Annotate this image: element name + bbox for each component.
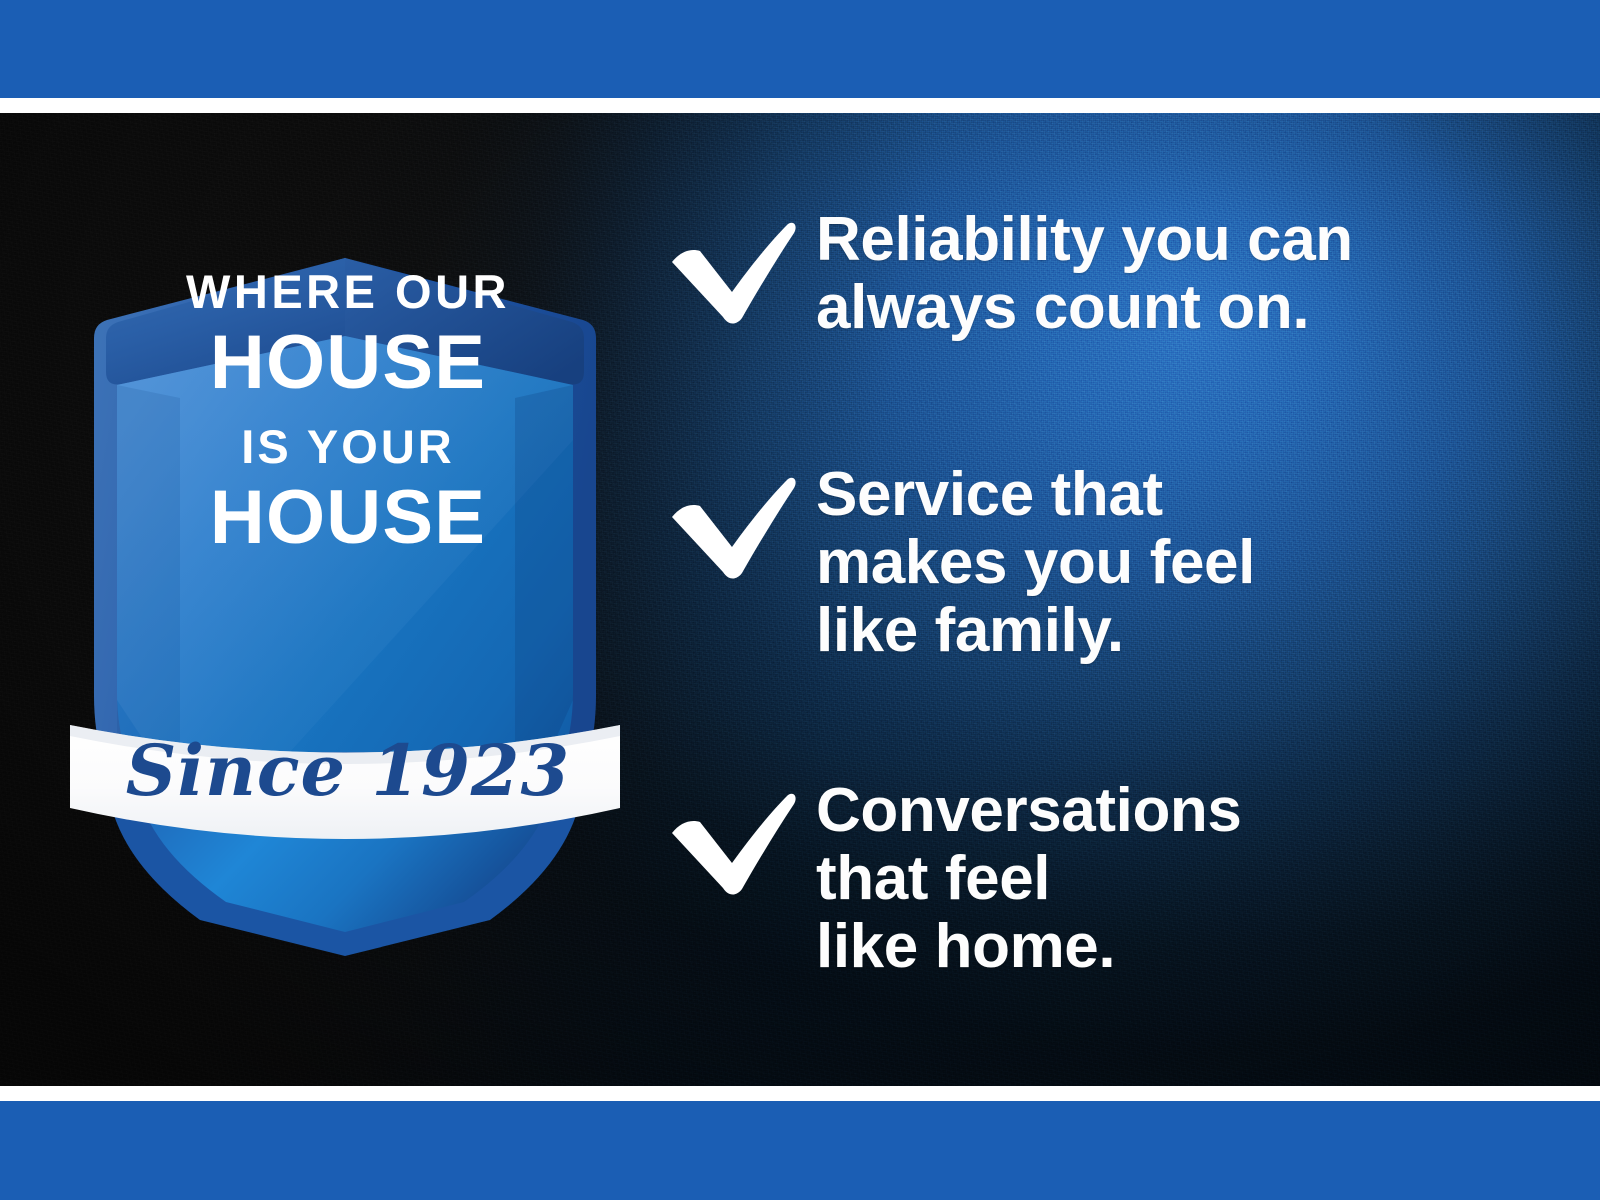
- top-brand-band: [0, 0, 1600, 98]
- shield-tagline-line-1: WHERE OUR: [186, 265, 510, 318]
- promo-graphic: WHERE OUR HOUSE IS YOUR HOUSE Since 1923…: [0, 0, 1600, 1200]
- shield-tagline-line-4: HOUSE: [210, 475, 486, 560]
- bottom-white-divider: [0, 1086, 1600, 1101]
- ribbon-since-text: Since 1923: [126, 729, 570, 812]
- list-item-text: Reliability you can always count on.: [816, 206, 1526, 342]
- list-item: Conversations that feel like home.: [666, 777, 1526, 982]
- shield-badge: WHERE OUR HOUSE IS YOUR HOUSE Since 1923: [60, 140, 630, 960]
- list-item: Reliability you can always count on.: [666, 206, 1526, 342]
- bottom-brand-band: [0, 1101, 1600, 1200]
- top-white-divider: [0, 98, 1600, 113]
- shield-tagline-line-2: HOUSE: [210, 320, 486, 405]
- list-item-text: Conversations that feel like home.: [816, 777, 1526, 982]
- list-item: Service that makes you feel like family.: [666, 461, 1526, 666]
- check-icon: [666, 461, 816, 581]
- value-prop-list: Reliability you can always count on. Ser…: [666, 113, 1526, 1086]
- check-icon: [666, 206, 816, 326]
- list-item-text: Service that makes you feel like family.: [816, 461, 1526, 666]
- check-icon: [666, 777, 816, 897]
- shield-tagline-line-3: IS YOUR: [241, 420, 454, 473]
